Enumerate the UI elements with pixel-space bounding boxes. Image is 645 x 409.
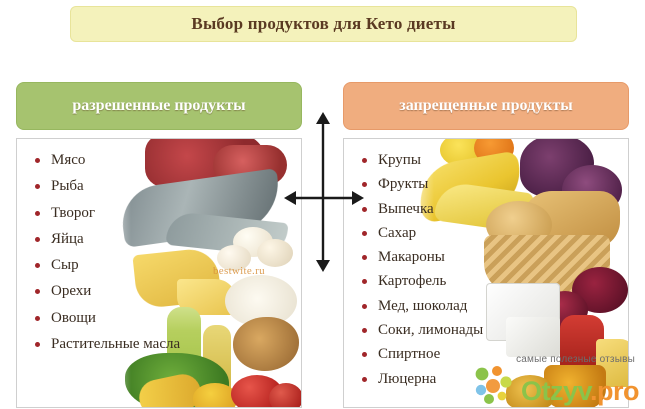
brand-logo: Otzyv.pro (473, 365, 639, 405)
list-item-label: Яйца (51, 231, 84, 247)
list-item-label: Соки, лимонады (378, 322, 483, 338)
list-item-label: Люцерна (378, 371, 436, 387)
list-item-label: Овощи (51, 310, 96, 326)
tomato-photo-2 (269, 383, 301, 407)
bullet-icon (35, 263, 40, 268)
list-item-label: Сахар (378, 225, 416, 241)
bullet-icon (35, 158, 40, 163)
list-item: Картофель (344, 272, 628, 290)
bullet-icon (362, 279, 367, 284)
bullet-icon (362, 304, 367, 309)
list-item-label: Творог (51, 205, 95, 221)
column-body-allowed: bestwite.ru Мясо Рыба Творог Яйца Сыр (16, 138, 302, 408)
list-item-label: Крупы (378, 152, 421, 168)
column-allowed: разрешенные продукты bestwite.ru (16, 82, 302, 130)
list-item-label: Картофель (378, 273, 446, 289)
column-header-allowed: разрешенные продукты (16, 82, 302, 130)
diagram-title-banner: Выбор продуктов для Кето диеты (70, 6, 577, 42)
bullet-icon (35, 342, 40, 347)
brand-name-second: .pro (590, 376, 639, 406)
page-title: Выбор продуктов для Кето диеты (191, 14, 455, 34)
bullet-icon (362, 377, 367, 382)
list-item: Фрукты (344, 175, 628, 193)
list-item: Орехи (17, 282, 301, 300)
list-item-label: Мед, шоколад (378, 298, 467, 314)
list-item-label: Фрукты (378, 176, 428, 192)
list-item: Растительные масла (17, 335, 301, 353)
column-header-allowed-label: разрешенные продукты (72, 98, 245, 115)
bullet-icon (35, 289, 40, 294)
list-item-label: Орехи (51, 283, 91, 299)
list-item: Сахар (344, 224, 628, 242)
list-item: Мясо (17, 151, 301, 169)
brand-mark-icon (473, 365, 515, 405)
bullet-icon (362, 328, 367, 333)
brand-name-first: Otzyv (521, 376, 590, 406)
list-item: Сыр (17, 256, 301, 274)
list-item: Яйца (17, 230, 301, 248)
brand-wordmark: Otzyv.pro (521, 378, 639, 405)
list-item: Макароны (344, 248, 628, 266)
column-header-forbidden: запрещенные продукты (343, 82, 629, 130)
allowed-products-list: Мясо Рыба Творог Яйца Сыр Орехи (17, 139, 301, 353)
bullet-icon (362, 158, 367, 163)
forbidden-products-list: Крупы Фрукты Выпечка Сахар Макароны Карт… (344, 139, 628, 388)
list-item: Мед, шоколад (344, 297, 628, 315)
bullet-icon (362, 255, 367, 260)
list-item-label: Макароны (378, 249, 445, 265)
list-item-label: Рыба (51, 178, 84, 194)
list-item-label: Выпечка (378, 201, 434, 217)
bullet-icon (362, 352, 367, 357)
list-item: Овощи (17, 309, 301, 327)
column-header-forbidden-label: запрещенные продукты (399, 98, 572, 115)
list-item: Творог (17, 204, 301, 222)
list-item: Крупы (344, 151, 628, 169)
bullet-icon (35, 211, 40, 216)
list-item-label: Мясо (51, 152, 85, 168)
list-item: Выпечка (344, 200, 628, 218)
bullet-icon (35, 237, 40, 242)
list-item-label: Растительные масла (51, 336, 180, 352)
column-forbidden: запрещенные продукты Крупы (343, 82, 629, 130)
bullet-icon (35, 184, 40, 189)
list-item: Соки, лимонады (344, 321, 628, 339)
horizontal-double-arrow-icon (284, 184, 364, 212)
list-item-label: Спиртное (378, 346, 440, 362)
bullet-icon (35, 316, 40, 321)
brand-caption: самые полезные отзывы (516, 354, 635, 365)
bullet-icon (362, 231, 367, 236)
list-item: Рыба (17, 177, 301, 195)
list-item-label: Сыр (51, 257, 79, 273)
